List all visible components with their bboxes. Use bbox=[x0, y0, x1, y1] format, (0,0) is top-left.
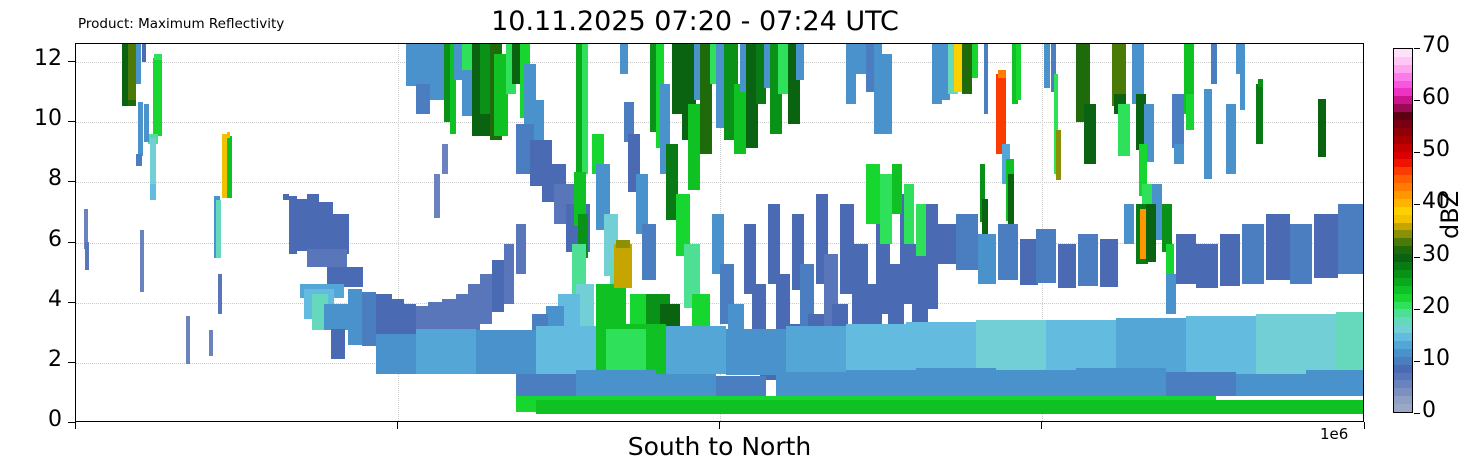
y-tick-label: 4 bbox=[10, 287, 62, 312]
colorbar-tick-mark bbox=[1414, 361, 1420, 362]
colorbar-segment bbox=[1394, 286, 1412, 294]
colorbar-segment bbox=[1394, 159, 1412, 167]
reflectivity-cell bbox=[916, 204, 926, 256]
x-tick-mark bbox=[397, 422, 398, 429]
plot-area bbox=[75, 43, 1364, 422]
reflectivity-cell bbox=[776, 372, 846, 396]
colorbar-segment bbox=[1394, 302, 1412, 310]
reflectivity-cell bbox=[916, 368, 996, 396]
reflectivity-cell bbox=[362, 292, 376, 346]
reflectivity-cell bbox=[150, 138, 156, 186]
reflectivity-cell bbox=[996, 370, 1076, 396]
colorbar-segment bbox=[1394, 65, 1412, 73]
reflectivity-cell bbox=[416, 84, 430, 114]
reflectivity-cell bbox=[880, 174, 892, 244]
reflectivity-cell bbox=[734, 84, 746, 154]
colorbar-segment bbox=[1394, 144, 1412, 152]
colorbar-tick-mark bbox=[1414, 257, 1420, 258]
reflectivity-cell bbox=[1306, 370, 1364, 396]
colorbar-segment bbox=[1394, 341, 1412, 349]
reflectivity-cell bbox=[1290, 224, 1312, 284]
reflectivity-cell bbox=[1318, 99, 1326, 157]
reflectivity-cell bbox=[442, 144, 448, 174]
colorbar-segment bbox=[1394, 380, 1412, 388]
colorbar-segment bbox=[1394, 254, 1412, 262]
colorbar-tick-mark bbox=[1414, 204, 1420, 205]
y-tick-mark bbox=[68, 181, 75, 182]
reflectivity-cell bbox=[726, 329, 786, 375]
reflectivity-cell bbox=[1076, 368, 1166, 396]
reflectivity-cell bbox=[996, 74, 1006, 154]
reflectivity-cell bbox=[866, 164, 880, 224]
colorbar-segment bbox=[1394, 325, 1412, 333]
reflectivity-cell bbox=[1172, 94, 1184, 148]
y-tick-label: 6 bbox=[10, 227, 62, 252]
y-tick-label: 10 bbox=[10, 106, 62, 131]
colorbar-segment bbox=[1394, 152, 1412, 160]
reflectivity-cell bbox=[606, 329, 646, 373]
reflectivity-cell bbox=[136, 44, 141, 84]
reflectivity-cell bbox=[688, 104, 700, 190]
reflectivity-cell bbox=[536, 326, 596, 374]
reflectivity-cell bbox=[307, 194, 319, 250]
reflectivity-cell bbox=[614, 244, 632, 288]
reflectivity-cell bbox=[289, 196, 297, 254]
colorbar-segment bbox=[1394, 112, 1412, 120]
reflectivity-cell bbox=[796, 44, 804, 80]
reflectivity-cell bbox=[1220, 234, 1240, 286]
reflectivity-cell bbox=[144, 104, 149, 142]
colorbar-segment bbox=[1394, 136, 1412, 144]
reflectivity-cell bbox=[319, 202, 333, 252]
reflectivity-cell bbox=[620, 44, 628, 74]
reflectivity-cell bbox=[480, 274, 492, 324]
reflectivity-cell bbox=[1336, 312, 1364, 376]
reflectivity-cell bbox=[962, 44, 972, 94]
colorbar-tick-mark bbox=[1414, 309, 1420, 310]
colorbar-segment bbox=[1394, 238, 1412, 246]
reflectivity-cell bbox=[1056, 130, 1061, 180]
reflectivity-cell bbox=[348, 289, 362, 345]
y-tick-mark bbox=[68, 121, 75, 122]
reflectivity-cell bbox=[1338, 204, 1364, 274]
colorbar-segment bbox=[1394, 270, 1412, 278]
reflectivity-cell bbox=[1044, 44, 1050, 88]
reflectivity-cell bbox=[216, 200, 221, 258]
colorbar-segment bbox=[1394, 81, 1412, 89]
reflectivity-cell bbox=[324, 304, 350, 330]
reflectivity-cell bbox=[1240, 44, 1245, 110]
reflectivity-cell bbox=[186, 316, 190, 364]
reflectivity-cell bbox=[1314, 214, 1338, 278]
reflectivity-cell bbox=[516, 224, 526, 274]
reflectivity-cell bbox=[978, 234, 996, 284]
reflectivity-cell bbox=[998, 224, 1018, 280]
colorbar-segment bbox=[1394, 388, 1412, 396]
y-tick-mark bbox=[68, 362, 75, 363]
reflectivity-cell bbox=[1256, 314, 1336, 376]
colorbar-segment bbox=[1394, 230, 1412, 238]
reflectivity-cell bbox=[846, 370, 916, 396]
reflectivity-cell bbox=[1078, 234, 1098, 286]
reflectivity-cell bbox=[1118, 104, 1130, 156]
reflectivity-cell bbox=[846, 324, 906, 376]
reflectivity-cell bbox=[138, 102, 143, 156]
reflectivity-heatmap bbox=[76, 44, 1363, 421]
y-tick-mark bbox=[68, 302, 75, 303]
reflectivity-cell bbox=[406, 44, 422, 86]
reflectivity-cell bbox=[454, 44, 462, 80]
colorbar-segment bbox=[1394, 333, 1412, 341]
reflectivity-cell bbox=[1166, 274, 1176, 314]
colorbar-segment bbox=[1394, 309, 1412, 317]
reflectivity-cell bbox=[936, 224, 956, 264]
reflectivity-cell bbox=[142, 44, 146, 62]
reflectivity-cell bbox=[222, 134, 227, 198]
x-tick-mark bbox=[1364, 422, 1365, 429]
colorbar-tick-mark bbox=[1414, 48, 1420, 49]
x-axis-label: South to North bbox=[75, 432, 1364, 461]
reflectivity-cell bbox=[331, 329, 345, 359]
reflectivity-cell bbox=[1266, 214, 1290, 280]
reflectivity-cell bbox=[1242, 224, 1264, 284]
colorbar-tick-label: 70 bbox=[1422, 33, 1450, 58]
reflectivity-cell bbox=[218, 274, 222, 314]
reflectivity-cell bbox=[576, 370, 656, 396]
reflectivity-cell bbox=[154, 54, 162, 60]
reflectivity-cell bbox=[854, 44, 866, 74]
reflectivity-cell bbox=[1204, 89, 1212, 179]
reflectivity-cell bbox=[227, 132, 230, 138]
reflectivity-cell bbox=[1196, 244, 1218, 288]
reflectivity-cell bbox=[1124, 204, 1134, 244]
reflectivity-cell bbox=[150, 184, 156, 200]
reflectivity-cell bbox=[536, 400, 1364, 414]
reflectivity-cell bbox=[140, 230, 144, 292]
y-tick-label: 12 bbox=[10, 46, 62, 71]
reflectivity-cell bbox=[956, 214, 978, 270]
colorbar-tick-label: 20 bbox=[1422, 294, 1450, 319]
radar-cross-section-figure: 10.11.2025 07:20 - 07:24 UTC Product: Ma… bbox=[0, 0, 1482, 470]
colorbar-segment bbox=[1394, 396, 1412, 404]
reflectivity-cell bbox=[492, 260, 504, 312]
colorbar-segment bbox=[1394, 57, 1412, 65]
reflectivity-cell bbox=[1258, 79, 1263, 87]
colorbar-tick-label: 50 bbox=[1422, 137, 1450, 162]
colorbar-label: dBZ bbox=[1436, 191, 1464, 239]
colorbar-tick-mark bbox=[1414, 413, 1420, 414]
reflectivity-cell bbox=[582, 44, 588, 174]
reflectivity-cell bbox=[128, 100, 136, 106]
y-tick-mark bbox=[68, 242, 75, 243]
colorbar-segment bbox=[1394, 404, 1412, 412]
colorbar-segment bbox=[1394, 183, 1412, 191]
colorbar-segment bbox=[1394, 262, 1412, 270]
colorbar-segment bbox=[1394, 120, 1412, 128]
colorbar-segment bbox=[1394, 223, 1412, 231]
reflectivity-cell bbox=[932, 44, 942, 104]
reflectivity-cell bbox=[1174, 144, 1184, 164]
reflectivity-cell bbox=[128, 44, 136, 102]
colorbar-segment bbox=[1394, 49, 1412, 57]
reflectivity-cell bbox=[666, 326, 726, 374]
reflectivity-cell bbox=[874, 44, 882, 134]
reflectivity-cell bbox=[892, 164, 902, 214]
reflectivity-cell bbox=[307, 249, 347, 267]
reflectivity-cell bbox=[768, 204, 780, 284]
colorbar-segment bbox=[1394, 88, 1412, 96]
reflectivity-cell bbox=[434, 174, 440, 218]
colorbar-tick-mark bbox=[1414, 152, 1420, 153]
reflectivity-cell bbox=[333, 214, 349, 254]
reflectivity-cell bbox=[376, 334, 416, 374]
product-annotation: Product: Maximum Reflectivity bbox=[78, 16, 284, 32]
reflectivity-cell bbox=[642, 224, 656, 280]
reflectivity-cell bbox=[297, 199, 307, 251]
y-tick-label: 2 bbox=[10, 347, 62, 372]
reflectivity-cell bbox=[998, 70, 1006, 78]
reflectivity-cell bbox=[1036, 229, 1056, 283]
reflectivity-cell bbox=[1256, 84, 1263, 144]
reflectivity-cell bbox=[209, 330, 213, 356]
colorbar bbox=[1393, 48, 1413, 413]
x-axis-offset-label: 1e6 bbox=[1320, 425, 1348, 443]
reflectivity-cell bbox=[136, 154, 142, 166]
reflectivity-cell bbox=[1146, 204, 1156, 262]
x-tick-mark bbox=[75, 422, 76, 429]
colorbar-segment bbox=[1394, 294, 1412, 302]
colorbar-segment bbox=[1394, 246, 1412, 254]
reflectivity-cell bbox=[786, 326, 846, 376]
colorbar-segment bbox=[1394, 96, 1412, 104]
reflectivity-cell bbox=[1211, 44, 1217, 84]
reflectivity-cell bbox=[516, 374, 576, 396]
reflectivity-cell bbox=[1176, 234, 1196, 284]
colorbar-tick-label: 10 bbox=[1422, 346, 1450, 371]
reflectivity-cell bbox=[504, 244, 514, 304]
y-tick-label: 0 bbox=[10, 407, 62, 432]
reflectivity-cell bbox=[1008, 174, 1014, 224]
reflectivity-cell bbox=[1186, 316, 1256, 376]
reflectivity-cell bbox=[153, 58, 162, 136]
colorbar-segment bbox=[1394, 357, 1412, 365]
reflectivity-cell bbox=[984, 44, 988, 114]
colorbar-tick-label: 30 bbox=[1422, 242, 1450, 267]
colorbar-segment bbox=[1394, 365, 1412, 373]
colorbar-segment bbox=[1394, 128, 1412, 136]
reflectivity-cell bbox=[972, 44, 978, 78]
colorbar-segment bbox=[1394, 104, 1412, 112]
reflectivity-cell bbox=[1186, 94, 1194, 130]
reflectivity-cell bbox=[904, 184, 914, 244]
colorbar-segment bbox=[1394, 73, 1412, 81]
reflectivity-cell bbox=[1016, 44, 1021, 100]
colorbar-segment bbox=[1394, 349, 1412, 357]
colorbar-segment bbox=[1394, 215, 1412, 223]
reflectivity-cell bbox=[468, 284, 480, 330]
colorbar-tick-label: 60 bbox=[1422, 85, 1450, 110]
colorbar-segment bbox=[1394, 175, 1412, 183]
reflectivity-cell bbox=[85, 242, 89, 270]
reflectivity-cell bbox=[480, 44, 490, 114]
colorbar-segment bbox=[1394, 191, 1412, 199]
reflectivity-cell bbox=[1058, 244, 1076, 288]
colorbar-tick-label: 0 bbox=[1422, 398, 1436, 423]
colorbar-segment bbox=[1394, 207, 1412, 215]
reflectivity-cell bbox=[416, 329, 476, 374]
y-tick-mark bbox=[68, 422, 75, 423]
y-tick-label: 8 bbox=[10, 166, 62, 191]
reflectivity-cell bbox=[476, 330, 536, 374]
reflectivity-cell bbox=[778, 44, 788, 94]
reflectivity-cell bbox=[1236, 374, 1306, 396]
colorbar-segment bbox=[1394, 278, 1412, 286]
reflectivity-cell bbox=[1084, 104, 1096, 164]
y-tick-mark bbox=[68, 61, 75, 62]
reflectivity-cell bbox=[616, 240, 630, 248]
x-tick-mark bbox=[1041, 422, 1042, 429]
colorbar-segment bbox=[1394, 199, 1412, 207]
reflectivity-cell bbox=[1226, 104, 1236, 174]
reflectivity-cell bbox=[1100, 239, 1118, 287]
reflectivity-cell bbox=[656, 374, 716, 396]
reflectivity-cell bbox=[716, 376, 766, 396]
colorbar-segment bbox=[1394, 317, 1412, 325]
colorbar-tick-mark bbox=[1414, 100, 1420, 101]
reflectivity-cell bbox=[882, 54, 892, 134]
reflectivity-cell bbox=[1166, 372, 1236, 396]
colorbar-segment bbox=[1394, 373, 1412, 381]
x-tick-mark bbox=[719, 422, 720, 429]
colorbar-segment bbox=[1394, 167, 1412, 175]
